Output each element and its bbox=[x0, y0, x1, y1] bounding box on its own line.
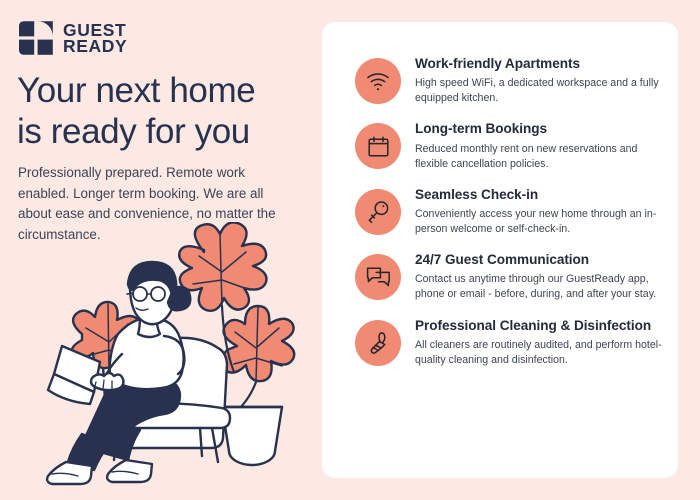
feature-text: Long-term Bookings Reduced monthly rent … bbox=[415, 121, 664, 171]
feature-item-long-term-bookings[interactable]: Long-term Bookings Reduced monthly rent … bbox=[322, 121, 678, 171]
feature-title: Professional Cleaning & Disinfection bbox=[415, 318, 664, 334]
broom-icon bbox=[355, 320, 401, 366]
feature-item-guest-communication[interactable]: 24/7 Guest Communication Contact us anyt… bbox=[322, 252, 678, 302]
feature-description: All cleaners are routinely audited, and … bbox=[415, 338, 664, 368]
feature-text: 24/7 Guest Communication Contact us anyt… bbox=[415, 252, 664, 302]
feature-item-seamless-check-in[interactable]: Seamless Check-in Conveniently access yo… bbox=[322, 187, 678, 237]
feature-title: Seamless Check-in bbox=[415, 187, 664, 203]
feature-text: Work-friendly Apartments High speed WiFi… bbox=[415, 56, 664, 106]
features-panel: Work-friendly Apartments High speed WiFi… bbox=[322, 22, 678, 478]
promo-page: GUEST READY Your next home is ready for … bbox=[0, 0, 700, 500]
feature-item-cleaning-disinfection[interactable]: Professional Cleaning & Disinfection All… bbox=[322, 318, 678, 368]
feature-title: Long-term Bookings bbox=[415, 121, 664, 137]
person-with-laptop bbox=[47, 262, 190, 484]
feature-description: Conveniently access your new home throug… bbox=[415, 207, 664, 237]
feature-text: Seamless Check-in Conveniently access yo… bbox=[415, 187, 664, 237]
brand-wordmark: GUEST READY bbox=[63, 22, 127, 55]
headline-line-1: Your next home bbox=[17, 70, 307, 111]
wifi-icon bbox=[355, 58, 401, 104]
feature-title: Work-friendly Apartments bbox=[415, 56, 664, 72]
brand-logo[interactable]: GUEST READY bbox=[18, 20, 127, 56]
feature-description: Contact us anytime through our GuestRead… bbox=[415, 272, 664, 302]
feature-item-work-friendly-apartments[interactable]: Work-friendly Apartments High speed WiFi… bbox=[322, 56, 678, 106]
key-icon bbox=[355, 189, 401, 235]
chat-bubbles-icon bbox=[355, 254, 401, 300]
guestready-quadrant-mark-icon bbox=[18, 20, 54, 56]
hero-illustration bbox=[36, 222, 311, 490]
feature-description: High speed WiFi, a dedicated workspace a… bbox=[415, 76, 664, 106]
feature-title: 24/7 Guest Communication bbox=[415, 252, 664, 268]
calendar-icon bbox=[355, 123, 401, 169]
brand-line-2: READY bbox=[63, 38, 127, 54]
features-list: Work-friendly Apartments High speed WiFi… bbox=[322, 22, 678, 368]
headline-line-2: is ready for you bbox=[17, 111, 307, 152]
hero-column: GUEST READY Your next home is ready for … bbox=[0, 0, 318, 500]
feature-text: Professional Cleaning & Disinfection All… bbox=[415, 318, 664, 368]
page-title: Your next home is ready for you bbox=[17, 70, 307, 153]
feature-description: Reduced monthly rent on new reservations… bbox=[415, 142, 664, 172]
